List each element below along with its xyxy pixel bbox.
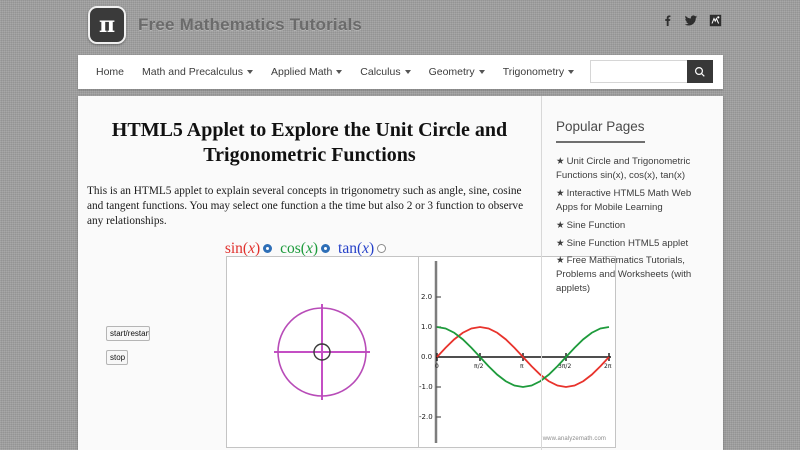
nav-item-geometry[interactable]: Geometry [420, 55, 494, 89]
applet-controls: start/restart stop [106, 326, 150, 365]
chevron-down-icon [479, 70, 485, 74]
nav-label: Math and Precalculus [142, 66, 243, 78]
list-item-label: Interactive HTML5 Math Web Apps for Mobi… [556, 188, 691, 213]
facebook-icon[interactable] [660, 13, 674, 27]
nav-item-home[interactable]: Home [87, 55, 133, 89]
star-icon: ★ [556, 188, 565, 199]
twitter-icon[interactable] [684, 13, 698, 27]
unit-circle-panel[interactable] [226, 256, 418, 448]
list-item-label: Sine Function HTML5 applet [567, 238, 689, 249]
site-header: π Free Mathematics Tutorials [0, 0, 800, 48]
site-title: Free Mathematics Tutorials [138, 15, 362, 35]
radio-tan[interactable] [377, 244, 386, 253]
list-item-label: Unit Circle and Trigonometric Functions … [556, 156, 690, 181]
svg-text:-2.0: -2.0 [419, 413, 433, 421]
star-icon: ★ [556, 220, 565, 231]
radio-sin[interactable] [263, 244, 272, 253]
sidebar-title: Popular Pages [556, 119, 645, 143]
nav-item-applied-math[interactable]: Applied Math [262, 55, 351, 89]
content-panel: HTML5 Applet to Explore the Unit Circle … [78, 96, 723, 450]
list-item[interactable]: ★Sine Function [556, 219, 709, 233]
svg-text:2.0: 2.0 [421, 293, 432, 301]
list-item-label: Sine Function [567, 220, 626, 231]
star-icon: ★ [556, 156, 565, 167]
start-restart-button[interactable]: start/restart [106, 326, 150, 341]
main-navbar: Home Math and Precalculus Applied Math C… [78, 55, 723, 89]
nav-item-calculus[interactable]: Calculus [351, 55, 419, 89]
search-icon [694, 66, 706, 78]
svg-text:π/2: π/2 [474, 363, 484, 370]
svg-text:0.0: 0.0 [421, 353, 432, 361]
star-icon: ★ [556, 255, 565, 266]
list-item-label: Free Mathematics Tutorials, Problems and… [556, 255, 691, 294]
chevron-down-icon [405, 70, 411, 74]
intro-paragraph: This is an HTML5 applet to explain sever… [87, 184, 532, 229]
nav-label: Trigonometry [503, 66, 564, 78]
list-item[interactable]: ★Free Mathematics Tutorials, Problems an… [556, 254, 709, 296]
page-title: HTML5 Applet to Explore the Unit Circle … [106, 118, 513, 168]
nav-item-math-and-precalculus[interactable]: Math and Precalculus [133, 55, 262, 89]
sidebar: Popular Pages ★Unit Circle and Trigonome… [541, 96, 723, 450]
radio-cos[interactable] [321, 244, 330, 253]
social-icons [660, 13, 722, 27]
chevron-down-icon [568, 70, 574, 74]
svg-text:0: 0 [435, 363, 439, 370]
list-item[interactable]: ★Interactive HTML5 Math Web Apps for Mob… [556, 187, 709, 215]
chevron-down-icon [336, 70, 342, 74]
nav-label: Home [96, 66, 124, 78]
search-input[interactable] [590, 60, 687, 83]
stop-button[interactable]: stop [106, 350, 128, 365]
nav-label: Applied Math [271, 66, 332, 78]
svg-text:π: π [520, 363, 524, 370]
main-column: HTML5 Applet to Explore the Unit Circle … [78, 96, 541, 450]
applet-area: start/restart stop [78, 254, 541, 450]
nav-label: Geometry [429, 66, 475, 78]
pi-logo-icon: π [88, 6, 126, 44]
star-icon: ★ [556, 238, 565, 249]
svg-text:-1.0: -1.0 [419, 383, 433, 391]
chevron-down-icon [247, 70, 253, 74]
nav-item-trigonometry[interactable]: Trigonometry [494, 55, 583, 89]
popular-pages-list: ★Unit Circle and Trigonometric Functions… [556, 155, 709, 296]
graph-y-ticklabels: 2.0 1.0 0.0 -1.0 -2.0 [419, 293, 433, 421]
list-item[interactable]: ★Unit Circle and Trigonometric Functions… [556, 155, 709, 183]
unit-circle-canvas [227, 257, 417, 447]
nav-list: Home Math and Precalculus Applied Math C… [87, 55, 635, 89]
list-item[interactable]: ★Sine Function HTML5 applet [556, 237, 709, 251]
svg-text:1.0: 1.0 [421, 323, 432, 331]
share-icon[interactable] [708, 13, 722, 27]
logo-block[interactable]: π Free Mathematics Tutorials [88, 6, 362, 44]
nav-label: Calculus [360, 66, 400, 78]
search-button[interactable] [687, 60, 713, 83]
search-area [590, 60, 713, 83]
